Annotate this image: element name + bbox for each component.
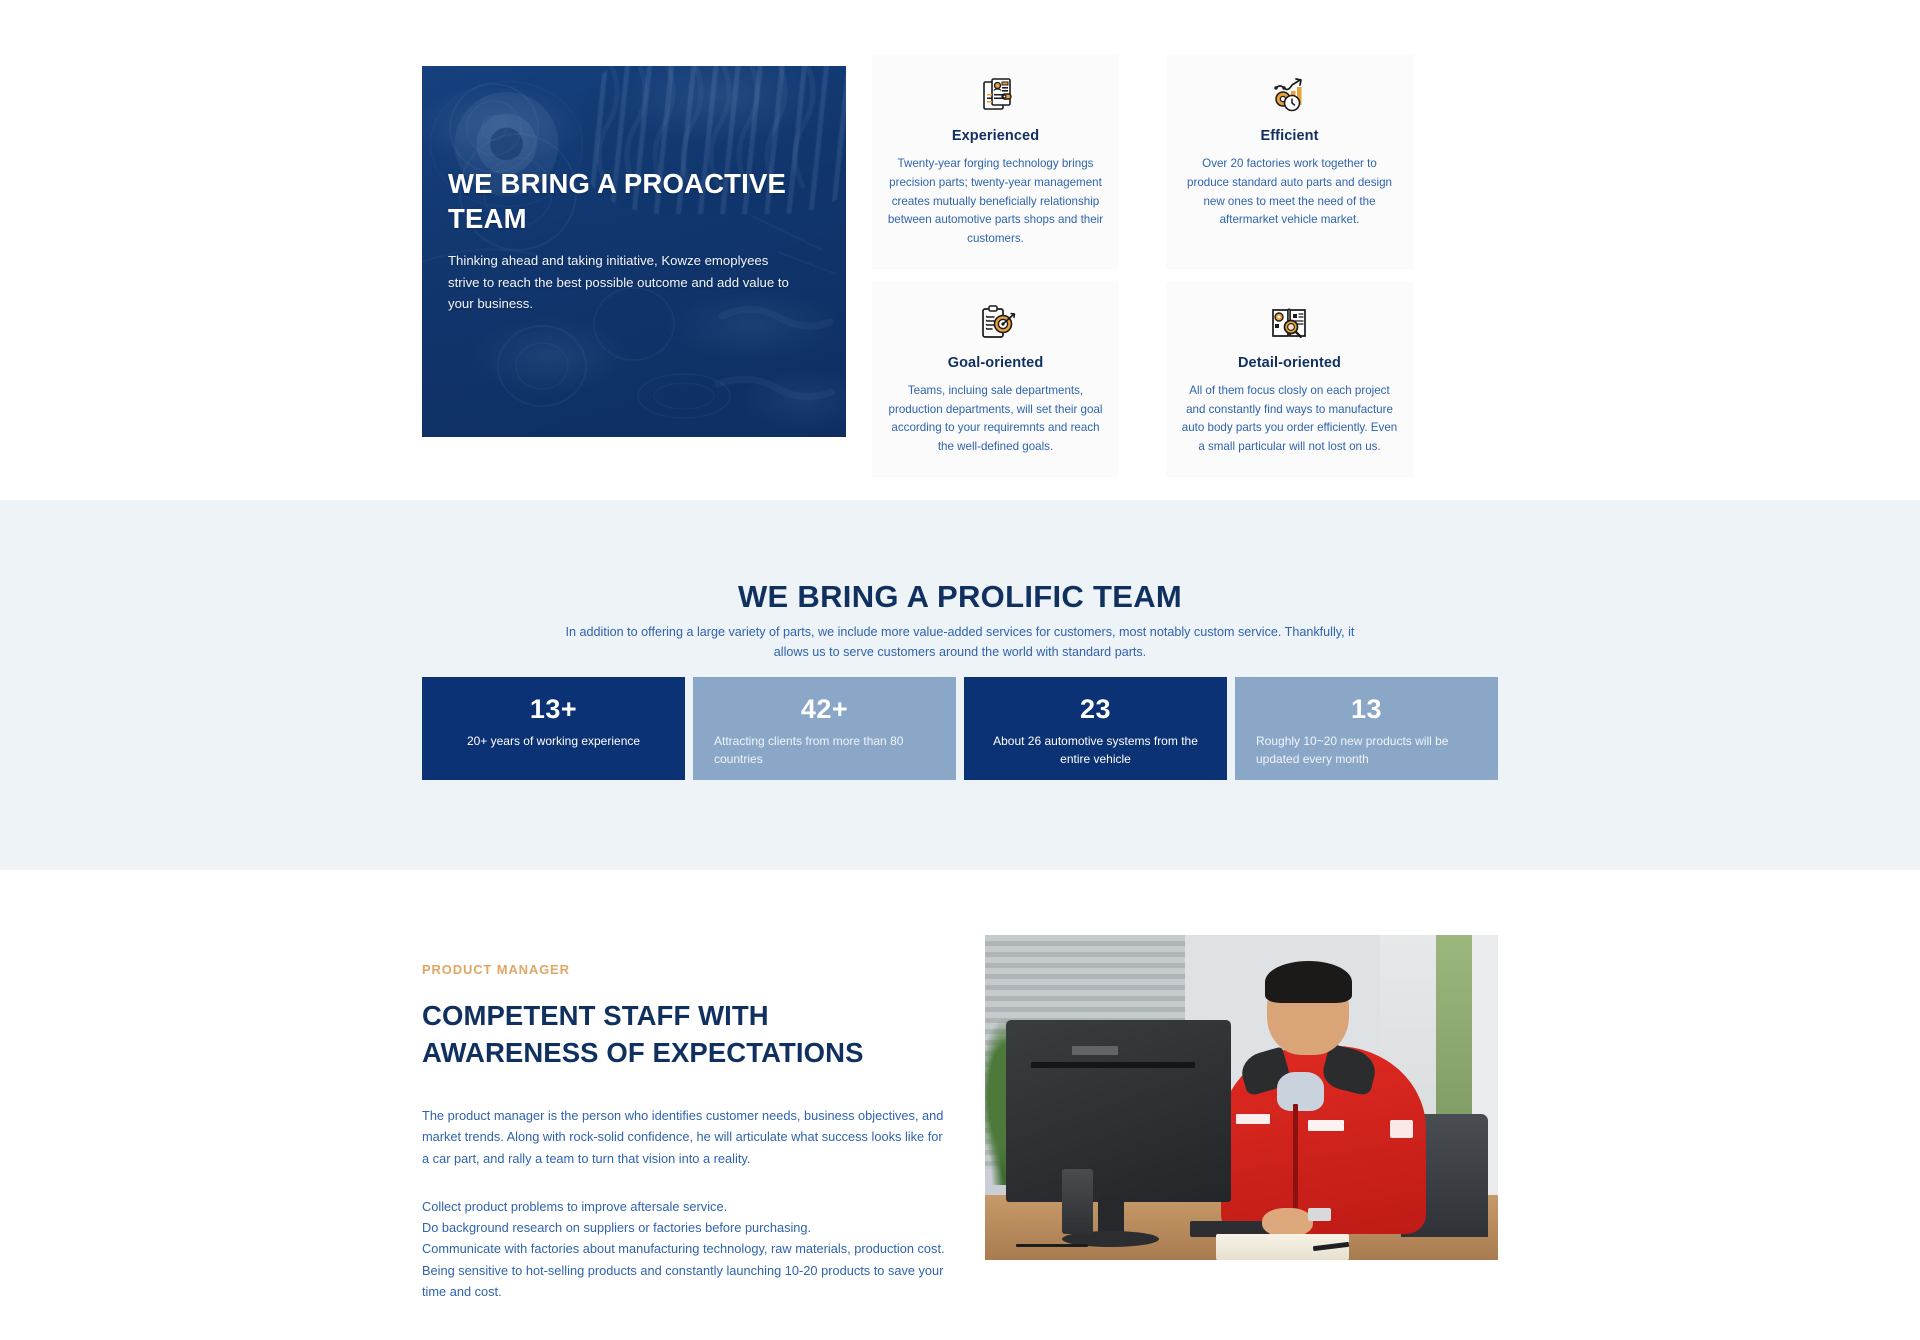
manager-text-column: PRODUCT MANAGER COMPETENT STAFF WITH AWA… (422, 962, 952, 1302)
growth-chart-clock-icon (1180, 73, 1399, 119)
manager-photo (985, 935, 1498, 1260)
person-hair (1265, 961, 1352, 1003)
clipboard-target-icon (886, 300, 1105, 346)
list-item: Communicate with factories about manufac… (422, 1238, 952, 1259)
monitor-cable (1016, 1244, 1088, 1247)
monitor-vent (1031, 1062, 1195, 1069)
feature-card-experienced[interactable]: Experienced Twenty-year forging technolo… (872, 55, 1119, 269)
jacket-zipper (1293, 1104, 1299, 1208)
feature-card-detail-oriented[interactable]: Detail-oriented All of them focus closly… (1166, 282, 1413, 477)
hero-card: WE BRING A PROACTIVE TEAM Thinking ahead… (422, 66, 846, 437)
jacket-logo-kowze (1308, 1120, 1344, 1131)
profile-document-icon (886, 73, 1105, 119)
proactive-team-section: WE BRING A PROACTIVE TEAM Thinking ahead… (0, 0, 1920, 500)
stat-number: 23 (985, 696, 1206, 723)
feature-text: Over 20 factories work together to produ… (1180, 155, 1399, 230)
monitor-brand-label (1072, 1046, 1118, 1056)
list-item: Collect product problems to improve afte… (422, 1196, 952, 1217)
jacket-logo-left (1236, 1114, 1269, 1124)
stat-card-experience: 13+ 20+ years of working experience (422, 677, 685, 780)
manager-paragraph: The product manager is the person who id… (422, 1105, 952, 1169)
feature-card-efficient[interactable]: Efficient Over 20 factories work togethe… (1166, 55, 1413, 269)
prolific-team-section: WE BRING A PROLIFIC TEAM In addition to … (0, 500, 1920, 870)
stat-card-new-products: 13 Roughly 10~20 new products will be up… (1235, 677, 1498, 780)
wristwatch (1308, 1208, 1331, 1221)
feature-text: Twenty-year forging technology brings pr… (886, 155, 1105, 249)
inner-shirt (1277, 1072, 1323, 1111)
person-hand (1262, 1208, 1313, 1237)
jacket-logo-sleeve (1390, 1120, 1413, 1138)
desk-speaker (1062, 1169, 1093, 1234)
feature-title: Goal-oriented (886, 355, 1105, 371)
list-item: Being sensitive to hot-selling products … (422, 1260, 952, 1302)
stat-number: 13+ (443, 696, 664, 723)
feature-card-goal-oriented[interactable]: Goal-oriented Teams, incluing sale depar… (872, 282, 1119, 477)
hero-subtitle: Thinking ahead and taking initiative, Ko… (448, 250, 800, 314)
stats-grid: 13+ 20+ years of working experience 42+ … (422, 677, 1498, 780)
section-subtitle: In addition to offering a large variety … (560, 622, 1360, 663)
team-stories-page: Home > Team Stories (0, 0, 1920, 1340)
list-item: Do background research on suppliers or f… (422, 1217, 952, 1238)
stat-number: 42+ (714, 696, 935, 723)
feature-text: Teams, incluing sale departments, produc… (886, 382, 1105, 457)
hero-content: WE BRING A PROACTIVE TEAM Thinking ahead… (448, 166, 800, 315)
stat-label: Roughly 10~20 new products will be updat… (1256, 732, 1477, 768)
monitor-stand (1098, 1195, 1124, 1234)
stat-card-clients: 42+ Attracting clients from more than 80… (693, 677, 956, 780)
stat-card-systems: 23 About 26 automotive systems from the … (964, 677, 1227, 780)
manager-heading: COMPETENT STAFF WITH AWARENESS OF EXPECT… (422, 998, 952, 1071)
window-greenery (1436, 935, 1472, 1137)
stat-label: 20+ years of working experience (443, 732, 664, 750)
stat-number: 13 (1256, 696, 1477, 723)
stat-label: Attracting clients from more than 80 cou… (714, 732, 935, 768)
feature-title: Detail-oriented (1180, 355, 1399, 371)
philips-monitor (1006, 1020, 1232, 1202)
hero-title: WE BRING A PROACTIVE TEAM (448, 166, 800, 236)
manager-eyebrow: PRODUCT MANAGER (422, 962, 952, 977)
book-magnifier-icon (1180, 300, 1399, 346)
feature-text: All of them focus closly on each project… (1180, 382, 1399, 457)
section-title: WE BRING A PROLIFIC TEAM (0, 579, 1920, 615)
manager-responsibility-list: Collect product problems to improve afte… (422, 1196, 952, 1302)
feature-title: Experienced (886, 128, 1105, 144)
stat-label: About 26 automotive systems from the ent… (985, 732, 1206, 768)
feature-card-grid: Experienced Twenty-year forging technolo… (872, 55, 1487, 477)
product-manager-section: PRODUCT MANAGER COMPETENT STAFF WITH AWA… (0, 870, 1920, 1340)
feature-title: Efficient (1180, 128, 1399, 144)
